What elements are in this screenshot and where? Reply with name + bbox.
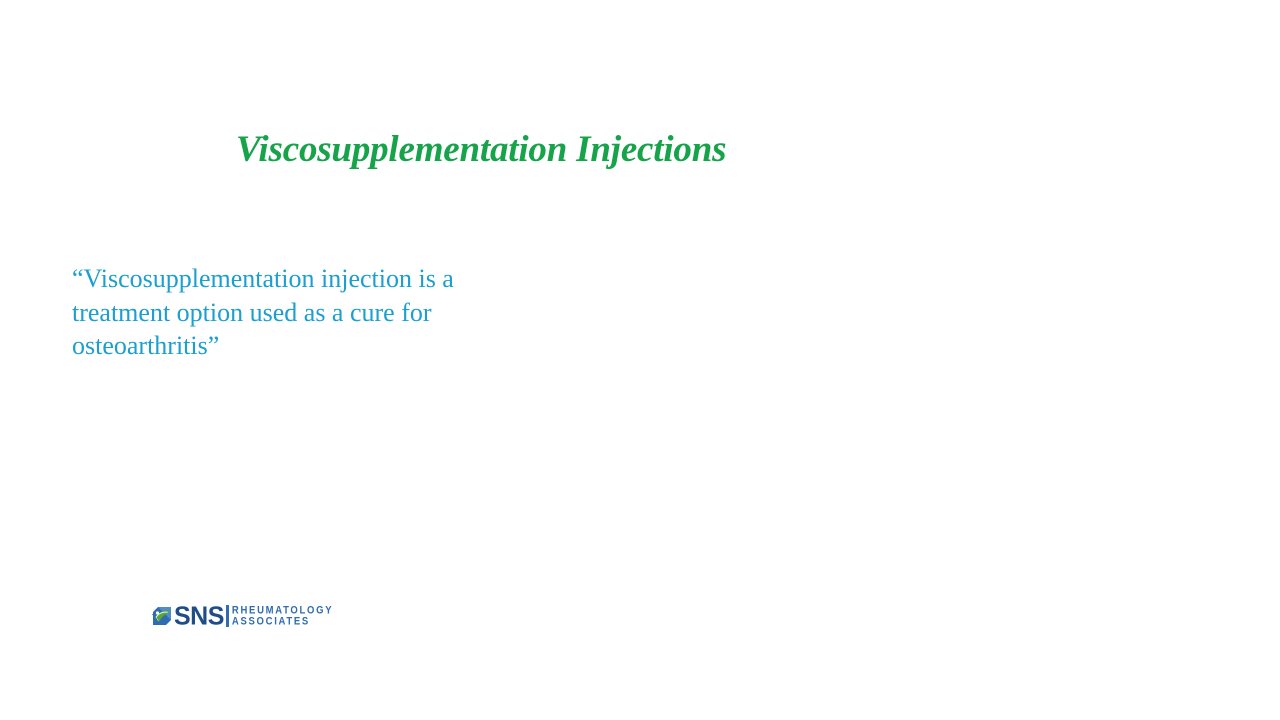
logo-subtext: RHEUMATOLOGY ASSOCIATES <box>232 604 333 628</box>
sns-emblem-icon <box>151 605 173 627</box>
page-title: Viscosupplementation Injections <box>236 127 1056 173</box>
slide-canvas: Viscosupplementation Injections “Viscosu… <box>0 0 1280 720</box>
logo-wordmark: SNS <box>174 603 224 629</box>
logo-divider <box>226 605 229 627</box>
sns-rheumatology-associates-logo: SNS RHEUMATOLOGY ASSOCIATES <box>151 601 333 631</box>
quote-text: “Viscosupplementation injection is a tre… <box>72 262 518 363</box>
logo-subtext-line2: ASSOCIATES <box>232 615 333 628</box>
